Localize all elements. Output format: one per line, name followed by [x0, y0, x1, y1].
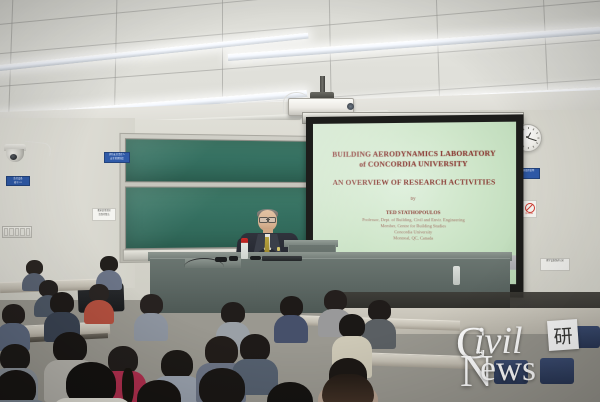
slide-subtitle: AN OVERVIEW OF RESEARCH ACTIVITIES	[319, 177, 510, 187]
person-torso	[84, 300, 114, 324]
audience-member	[274, 296, 308, 340]
slide-title: BUILDING AERODYNAMICS LABORATORY of CONC…	[319, 148, 510, 168]
auditorium-seat[interactable]	[540, 358, 574, 384]
person-head	[221, 302, 245, 324]
person-head	[0, 370, 36, 402]
slide-affiliation-line4: Montreal, QC, Canada	[319, 235, 510, 242]
microphone	[250, 256, 261, 260]
notice-text: 请保持整洁	[93, 213, 115, 217]
laptop[interactable]	[262, 256, 302, 261]
person-head	[267, 382, 313, 402]
person-head	[2, 304, 25, 325]
person-head	[240, 334, 270, 362]
light-switch-panel[interactable]	[2, 226, 32, 238]
audience-member	[52, 362, 132, 402]
sign-left-upper: 消防安全责任人 安全管理制度	[104, 152, 130, 163]
camera-cable	[23, 141, 51, 157]
person-head	[66, 362, 116, 402]
slide-title-line2: of CONCORDIA UNIVERSITY	[319, 158, 510, 169]
presenter-badge	[277, 247, 280, 251]
person-head	[324, 290, 347, 311]
audience	[0, 262, 600, 402]
slide-affiliation: Professor, Dept. of Building, Civil and …	[319, 217, 510, 242]
person-torso	[134, 313, 168, 341]
notice-left-wall: 教室使用须知 请保持整洁	[92, 208, 116, 221]
person-torso	[52, 398, 132, 402]
audience-member	[0, 304, 30, 348]
long-hair	[322, 374, 374, 402]
slide-title-line1: BUILDING AERODYNAMICS LABORATORY	[319, 148, 510, 159]
person-head	[280, 296, 303, 317]
person-head	[339, 314, 365, 338]
sign-left-camera: 监控设备 编号 01	[6, 176, 30, 186]
person-head	[137, 380, 181, 402]
person-head	[0, 344, 30, 371]
eyeglasses-icon	[259, 217, 276, 221]
auditorium-seat[interactable]	[568, 326, 600, 348]
audience-member	[186, 368, 258, 402]
no-smoking-caption: 禁止吸烟	[523, 213, 535, 216]
sign-text: 编号 01	[7, 181, 29, 185]
audience-member	[134, 294, 168, 338]
audience-member	[124, 380, 194, 402]
lecture-hall-photo: 监控设备 编号 01 消防安全责任人 安全管理制度 教室使用须知 请保持整洁 多…	[0, 0, 600, 402]
person-torso	[274, 315, 308, 343]
auditorium-seat[interactable]	[494, 360, 528, 384]
microphone	[229, 256, 238, 261]
person-head	[199, 368, 245, 402]
audience-member	[318, 358, 378, 402]
person-head	[53, 332, 87, 363]
beverage-bottle	[241, 238, 248, 259]
chalkboard-panel-upper	[125, 138, 317, 183]
slide-by-label: by	[319, 196, 510, 203]
person-head	[50, 292, 74, 314]
person-head	[140, 294, 163, 315]
audience-member	[0, 370, 50, 402]
sign-text: 安全管理制度	[105, 157, 129, 161]
audience-member	[84, 284, 114, 320]
